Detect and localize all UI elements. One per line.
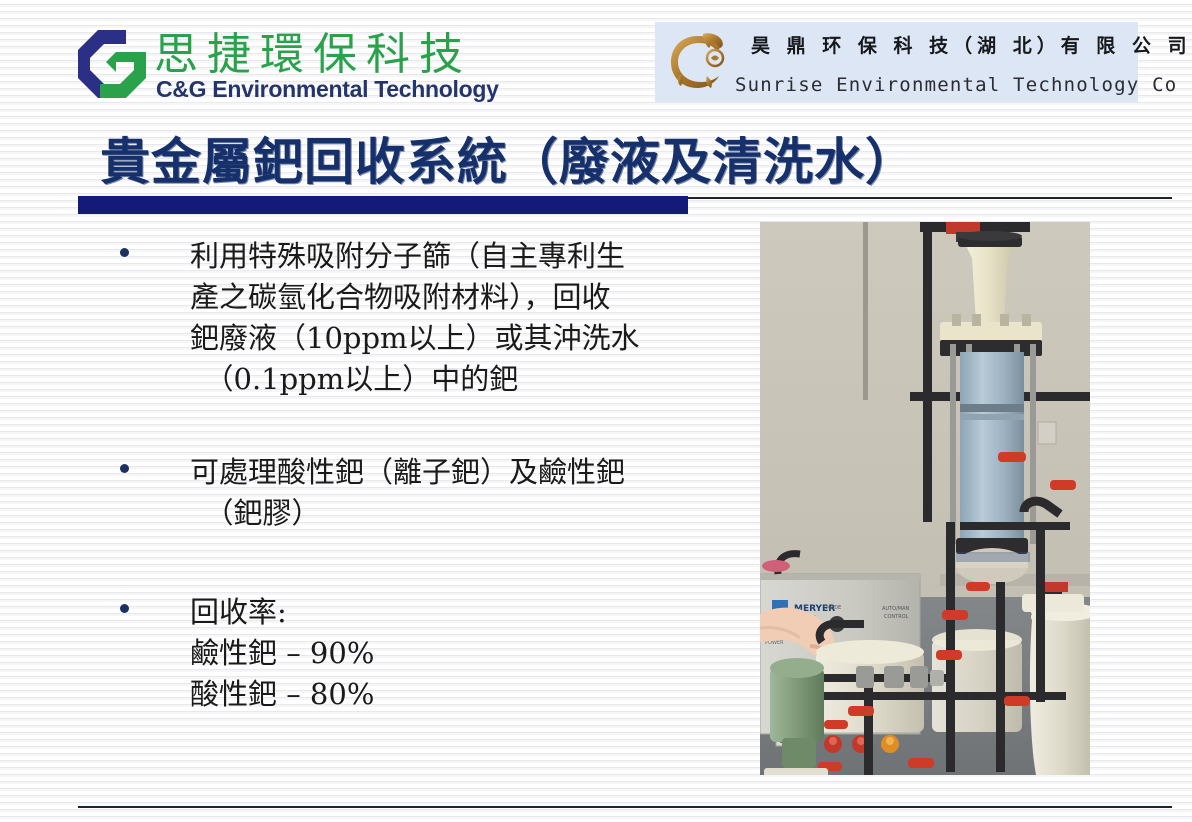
bullet-text: 利用特殊吸附分子篩（自主專利生 產之碳氫化合物吸附材料），回收 鈀廢液（10pp… <box>190 236 640 400</box>
svg-text:CONTROL: CONTROL <box>884 614 909 620</box>
bullet-text: 可處理酸性鈀（離子鈀）及鹼性鈀 （鈀膠） <box>190 452 625 534</box>
svg-text:AUTO/MAN: AUTO/MAN <box>882 606 909 612</box>
cg-hexagon-g-mark-icon <box>76 28 148 100</box>
bullet-dot-icon <box>120 604 129 613</box>
footer-rule <box>78 806 1172 808</box>
bullet-text: 回收率: 鹼性鈀 – 90% 酸性鈀 – 80% <box>190 592 374 715</box>
sunrise-english-name: Sunrise Environmental Technology Co Ltd <box>735 70 1192 97</box>
sunrise-chinese-name: 昊 鼎 环 保 科 技（湖 北）有 限 公 司 <box>751 31 1192 58</box>
title-underline-bar <box>78 196 688 214</box>
cg-logo: 思捷環保科技 C&G Environmental Technology <box>76 24 476 110</box>
bullet-dot-icon <box>120 248 129 257</box>
bullet-dot-icon <box>120 464 129 473</box>
cg-english-name: C&G Environmental Technology <box>156 76 499 103</box>
title-underline-rule <box>688 197 1172 199</box>
cg-chinese-name: 思捷環保科技 <box>154 18 472 82</box>
page-title: 貴金屬鈀回收系統（廢液及清洗水） <box>100 122 916 194</box>
svg-text:MODE: MODE <box>826 605 841 611</box>
equipment-photo: MERYER 梅 瑞 尔 POWER MODE AUTO/MAN CONTROL… <box>760 222 1090 775</box>
sunrise-dragon-mark-icon <box>663 28 733 96</box>
slide-canvas: 思捷環保科技 C&G Environmental Technology <box>0 0 1192 822</box>
sunrise-logo-box: 昊 鼎 环 保 科 技（湖 北）有 限 公 司 Sunrise Environm… <box>655 22 1138 102</box>
